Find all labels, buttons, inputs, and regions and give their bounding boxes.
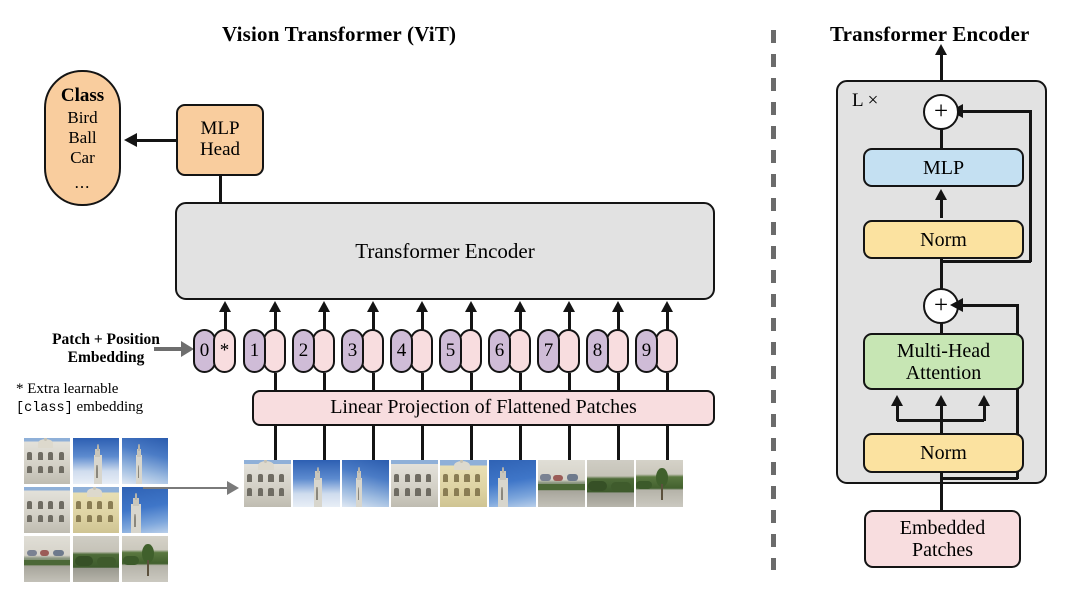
patch-detail	[464, 474, 469, 482]
input-image-patch-7	[73, 536, 119, 582]
encoder-norm-bottom-box: Norm	[863, 433, 1024, 473]
token-4: 4	[390, 329, 433, 373]
patch-detail	[27, 515, 32, 523]
patch-detail	[268, 488, 273, 496]
encoder-output-arrowhead	[935, 44, 947, 55]
class-token-star: *	[213, 329, 236, 373]
token-arrow-head-0	[219, 301, 231, 312]
extra-learnable-note: * Extra learnable [class] embedding	[16, 380, 202, 418]
patch-detail	[268, 474, 273, 482]
class-output-pill: Class Bird Ball Car ...	[44, 70, 121, 206]
patch-detail	[123, 556, 139, 564]
embedded-to-norm-line	[940, 472, 943, 512]
input-image-patch-1	[73, 438, 119, 484]
patch-detail	[356, 478, 363, 507]
token-embedding-6	[508, 329, 531, 373]
patch-detail	[131, 504, 141, 533]
lp-patch-line-7	[568, 425, 571, 460]
pp-label-line2: Embedding	[13, 349, 199, 367]
patch-detail	[38, 501, 43, 509]
class-item-ball: Ball	[68, 128, 96, 148]
token-arrow-shaft-2	[323, 311, 326, 331]
flattened-patch-2	[342, 460, 389, 507]
token-index-5: 5	[439, 329, 462, 373]
encoder-attention-box: Multi-Head Attention	[863, 333, 1024, 390]
normtop-to-mlp-line	[940, 198, 943, 218]
patch-detail	[454, 488, 459, 496]
patch-detail	[48, 515, 53, 523]
repeat-count-label: L ×	[852, 90, 878, 112]
patch-detail	[405, 474, 410, 482]
patch-detail	[53, 550, 64, 556]
extra-note-line2: [class] embedding	[16, 398, 202, 417]
patch-detail	[611, 482, 631, 491]
patch-detail	[38, 466, 43, 474]
patch-detail	[258, 474, 263, 482]
patch-detail	[247, 488, 252, 496]
token-arrow-head-9	[661, 301, 673, 312]
residual-bottom-arrowhead	[950, 298, 963, 312]
embedded-patches-label-line2: Patches	[912, 539, 973, 561]
token-5: 5	[439, 329, 482, 373]
flattened-patch-6	[538, 460, 585, 507]
token-3: 3	[341, 329, 384, 373]
plus-symbol-bottom: +	[934, 293, 948, 318]
token-arrow-shaft-8	[617, 311, 620, 331]
flattened-patch-1	[293, 460, 340, 507]
patch-detail	[636, 481, 652, 489]
patch-detail	[94, 455, 101, 484]
patch-detail	[96, 465, 97, 478]
token-embedding-8	[606, 329, 629, 373]
patch-detail	[38, 452, 43, 460]
extra-note-line1: * Extra learnable	[16, 380, 202, 398]
patch-detail	[475, 474, 480, 482]
patch-detail	[588, 481, 607, 491]
token-index-3: 3	[341, 329, 364, 373]
encoder-norm-top-box: Norm	[863, 220, 1024, 259]
patch-detail	[147, 560, 149, 576]
patch-detail	[27, 550, 37, 556]
linear-projection-label: Linear Projection of Flattened Patches	[330, 397, 637, 419]
patch-detail	[502, 467, 504, 474]
token-embedding-5	[459, 329, 482, 373]
patch-detail	[59, 515, 64, 523]
patch-detail	[247, 474, 252, 482]
patch-detail	[317, 467, 319, 474]
qkv-center-stem	[940, 404, 943, 433]
input-image-patch-0	[24, 438, 70, 484]
token-arrow-shaft-0	[224, 311, 227, 331]
patch-detail	[501, 487, 503, 500]
patch-detail	[59, 452, 64, 460]
lp-patch-line-9	[666, 425, 669, 460]
token-index-9: 9	[635, 329, 658, 373]
lp-patch-line-1	[274, 425, 277, 460]
patch-detail	[394, 488, 399, 496]
token-2: 2	[292, 329, 335, 373]
pp-label-line1: Patch + Position	[13, 331, 199, 349]
patch-detail	[316, 487, 317, 500]
patch-detail	[48, 466, 53, 474]
normtop-to-mlp-arrowhead	[935, 189, 947, 200]
patch-detail	[87, 515, 92, 523]
patch-detail	[475, 488, 480, 496]
token-arrow-head-4	[416, 301, 428, 312]
token-arrow-shaft-9	[666, 311, 669, 331]
patch-detail	[108, 501, 113, 509]
patch-detail	[76, 515, 81, 523]
patch-detail	[426, 474, 431, 482]
qkv-center-arrowhead	[935, 395, 947, 406]
class-item-car: Car	[70, 148, 95, 168]
encoder-mlp-box: MLP	[863, 148, 1024, 187]
encoder-norm-top-label: Norm	[920, 229, 967, 251]
patch-detail	[108, 515, 113, 523]
token-6: 6	[488, 329, 531, 373]
patch-detail	[27, 452, 32, 460]
patch-detail	[76, 501, 81, 509]
patch-detail	[27, 466, 32, 474]
token-embedding-9	[655, 329, 678, 373]
token-index-1: 1	[243, 329, 266, 373]
token-index-6: 6	[488, 329, 511, 373]
transformer-encoder-box: Transformer Encoder	[175, 202, 715, 300]
patch-detail	[314, 478, 322, 507]
patch-detail	[279, 474, 284, 482]
token-arrow-shaft-4	[421, 311, 424, 331]
input-image-patch-6	[24, 536, 70, 582]
token-arrow-shaft-1	[274, 311, 277, 331]
pp-label-arrow-shaft	[154, 347, 182, 351]
token-index-7: 7	[537, 329, 560, 373]
qkv-left-stem	[896, 404, 899, 421]
input-image-patch-8	[122, 536, 168, 582]
residual-bottom-arrow-line	[961, 304, 1018, 307]
mlp-head-label-line2: Head	[200, 140, 240, 161]
mlp-to-add-top-line	[940, 128, 943, 150]
patch-detail	[415, 488, 420, 496]
grid-to-sequence-arrow-head	[227, 481, 239, 495]
residual-bottom-horizontal	[941, 477, 1018, 480]
mlp-head-label-line1: MLP	[200, 119, 239, 140]
token-embedding-3	[361, 329, 384, 373]
patch-detail	[394, 474, 399, 482]
lp-patch-line-2	[323, 425, 326, 460]
encoder-attention-label-line1: Multi-Head	[897, 340, 990, 362]
residual-add-top: +	[923, 94, 959, 130]
patch-detail	[454, 474, 459, 482]
residual-top-right-vertical	[1029, 110, 1032, 262]
patch-detail	[48, 452, 53, 460]
token-embedding-7	[557, 329, 580, 373]
class-token-mono: [class]	[16, 401, 73, 416]
token-embedding-2	[312, 329, 335, 373]
lp-patch-line-4	[421, 425, 424, 460]
token-arrow-head-5	[465, 301, 477, 312]
patch-detail	[59, 501, 64, 509]
residual-top-bottom-horizontal	[941, 260, 1031, 263]
patch-detail	[97, 557, 116, 566]
token-arrow-head-6	[514, 301, 526, 312]
patch-detail	[498, 478, 508, 507]
token-1: 1	[243, 329, 286, 373]
patch-detail	[540, 474, 550, 481]
patch-detail	[405, 488, 410, 496]
flattened-patch-5	[489, 460, 536, 507]
mlp-to-class-line	[137, 139, 177, 142]
token-arrow-head-8	[612, 301, 624, 312]
token-arrow-shaft-3	[372, 311, 375, 331]
patch-detail	[279, 488, 284, 496]
token-embedding-1	[263, 329, 286, 373]
patch-detail	[75, 556, 93, 566]
token-arrow-head-3	[367, 301, 379, 312]
patch-detail	[258, 488, 263, 496]
lp-patch-line-6	[519, 425, 522, 460]
patch-detail	[40, 550, 49, 556]
token-0: 0*	[193, 329, 236, 373]
qkv-left-arrowhead	[891, 395, 903, 406]
token-embedding-4	[410, 329, 433, 373]
patch-detail	[567, 474, 578, 481]
plus-symbol-top: +	[934, 99, 948, 124]
embedded-patches-label-line1: Embedded	[900, 517, 986, 539]
patch-detail	[59, 466, 64, 474]
patch-detail	[415, 474, 420, 482]
patch-detail	[661, 484, 663, 500]
class-ellipsis: ...	[75, 173, 91, 193]
class-heading: Class	[61, 85, 104, 107]
patch-detail	[136, 455, 142, 484]
token-arrow-shaft-6	[519, 311, 522, 331]
patch-detail	[138, 444, 140, 450]
patch-detail	[358, 467, 360, 474]
input-image-patch-5	[122, 487, 168, 533]
patch-detail	[553, 475, 562, 481]
qkv-right-stem	[983, 404, 986, 421]
input-image-patch-3	[24, 487, 70, 533]
grid-to-sequence-arrow-shaft	[143, 487, 228, 489]
lp-patch-line-3	[372, 425, 375, 460]
flattened-patch-4	[440, 460, 487, 507]
qkv-right-arrowhead	[978, 395, 990, 406]
token-arrow-head-2	[318, 301, 330, 312]
patch-detail	[27, 501, 32, 509]
patch-detail	[464, 488, 469, 496]
panel-divider	[771, 30, 776, 570]
patch-detail	[38, 515, 43, 523]
token-index-8: 8	[586, 329, 609, 373]
token-arrow-head-1	[269, 301, 281, 312]
input-image-patch-2	[122, 438, 168, 484]
lp-patch-line-5	[470, 425, 473, 460]
patch-detail	[48, 501, 53, 509]
token-index-2: 2	[292, 329, 315, 373]
token-9: 9	[635, 329, 678, 373]
patch-detail	[538, 484, 585, 490]
patch-detail	[134, 514, 136, 527]
token-arrow-shaft-7	[568, 311, 571, 331]
patch-detail	[426, 488, 431, 496]
mlphead-to-encoder-line	[219, 176, 222, 204]
class-item-bird: Bird	[67, 108, 97, 128]
patch-detail	[358, 487, 359, 500]
token-arrow-shaft-5	[470, 311, 473, 331]
residual-top-arrow-line	[961, 110, 1031, 113]
page-title-vit: Vision Transformer (ViT)	[222, 22, 456, 47]
patch-detail	[443, 488, 448, 496]
patch-detail	[443, 474, 448, 482]
mlp-to-class-arrowhead	[124, 133, 137, 147]
linear-projection-box: Linear Projection of Flattened Patches	[252, 390, 715, 426]
token-index-4: 4	[390, 329, 413, 373]
patch-detail	[97, 501, 102, 509]
encoder-norm-bottom-label: Norm	[920, 442, 967, 464]
transformer-encoder-label: Transformer Encoder	[355, 240, 534, 263]
patch-detail	[97, 444, 99, 450]
patch-detail	[97, 515, 102, 523]
flattened-patch-3	[391, 460, 438, 507]
token-arrow-head-7	[563, 301, 575, 312]
encoder-attention-label-line2: Attention	[906, 362, 982, 384]
token-8: 8	[586, 329, 629, 373]
extra-note-line2-rest: embedding	[73, 399, 143, 415]
input-image-patch-4	[73, 487, 119, 533]
patch-detail	[24, 560, 70, 566]
patch-detail	[87, 501, 92, 509]
lp-patch-line-8	[617, 425, 620, 460]
mlp-head-box: MLP Head	[176, 104, 264, 176]
flattened-patch-0	[244, 460, 291, 507]
embedded-patches-box: Embedded Patches	[864, 510, 1021, 568]
encoder-mlp-label: MLP	[923, 157, 964, 179]
flattened-patch-8	[636, 460, 683, 507]
page-title-encoder: Transformer Encoder	[830, 22, 1030, 47]
flattened-patch-7	[587, 460, 634, 507]
token-7: 7	[537, 329, 580, 373]
